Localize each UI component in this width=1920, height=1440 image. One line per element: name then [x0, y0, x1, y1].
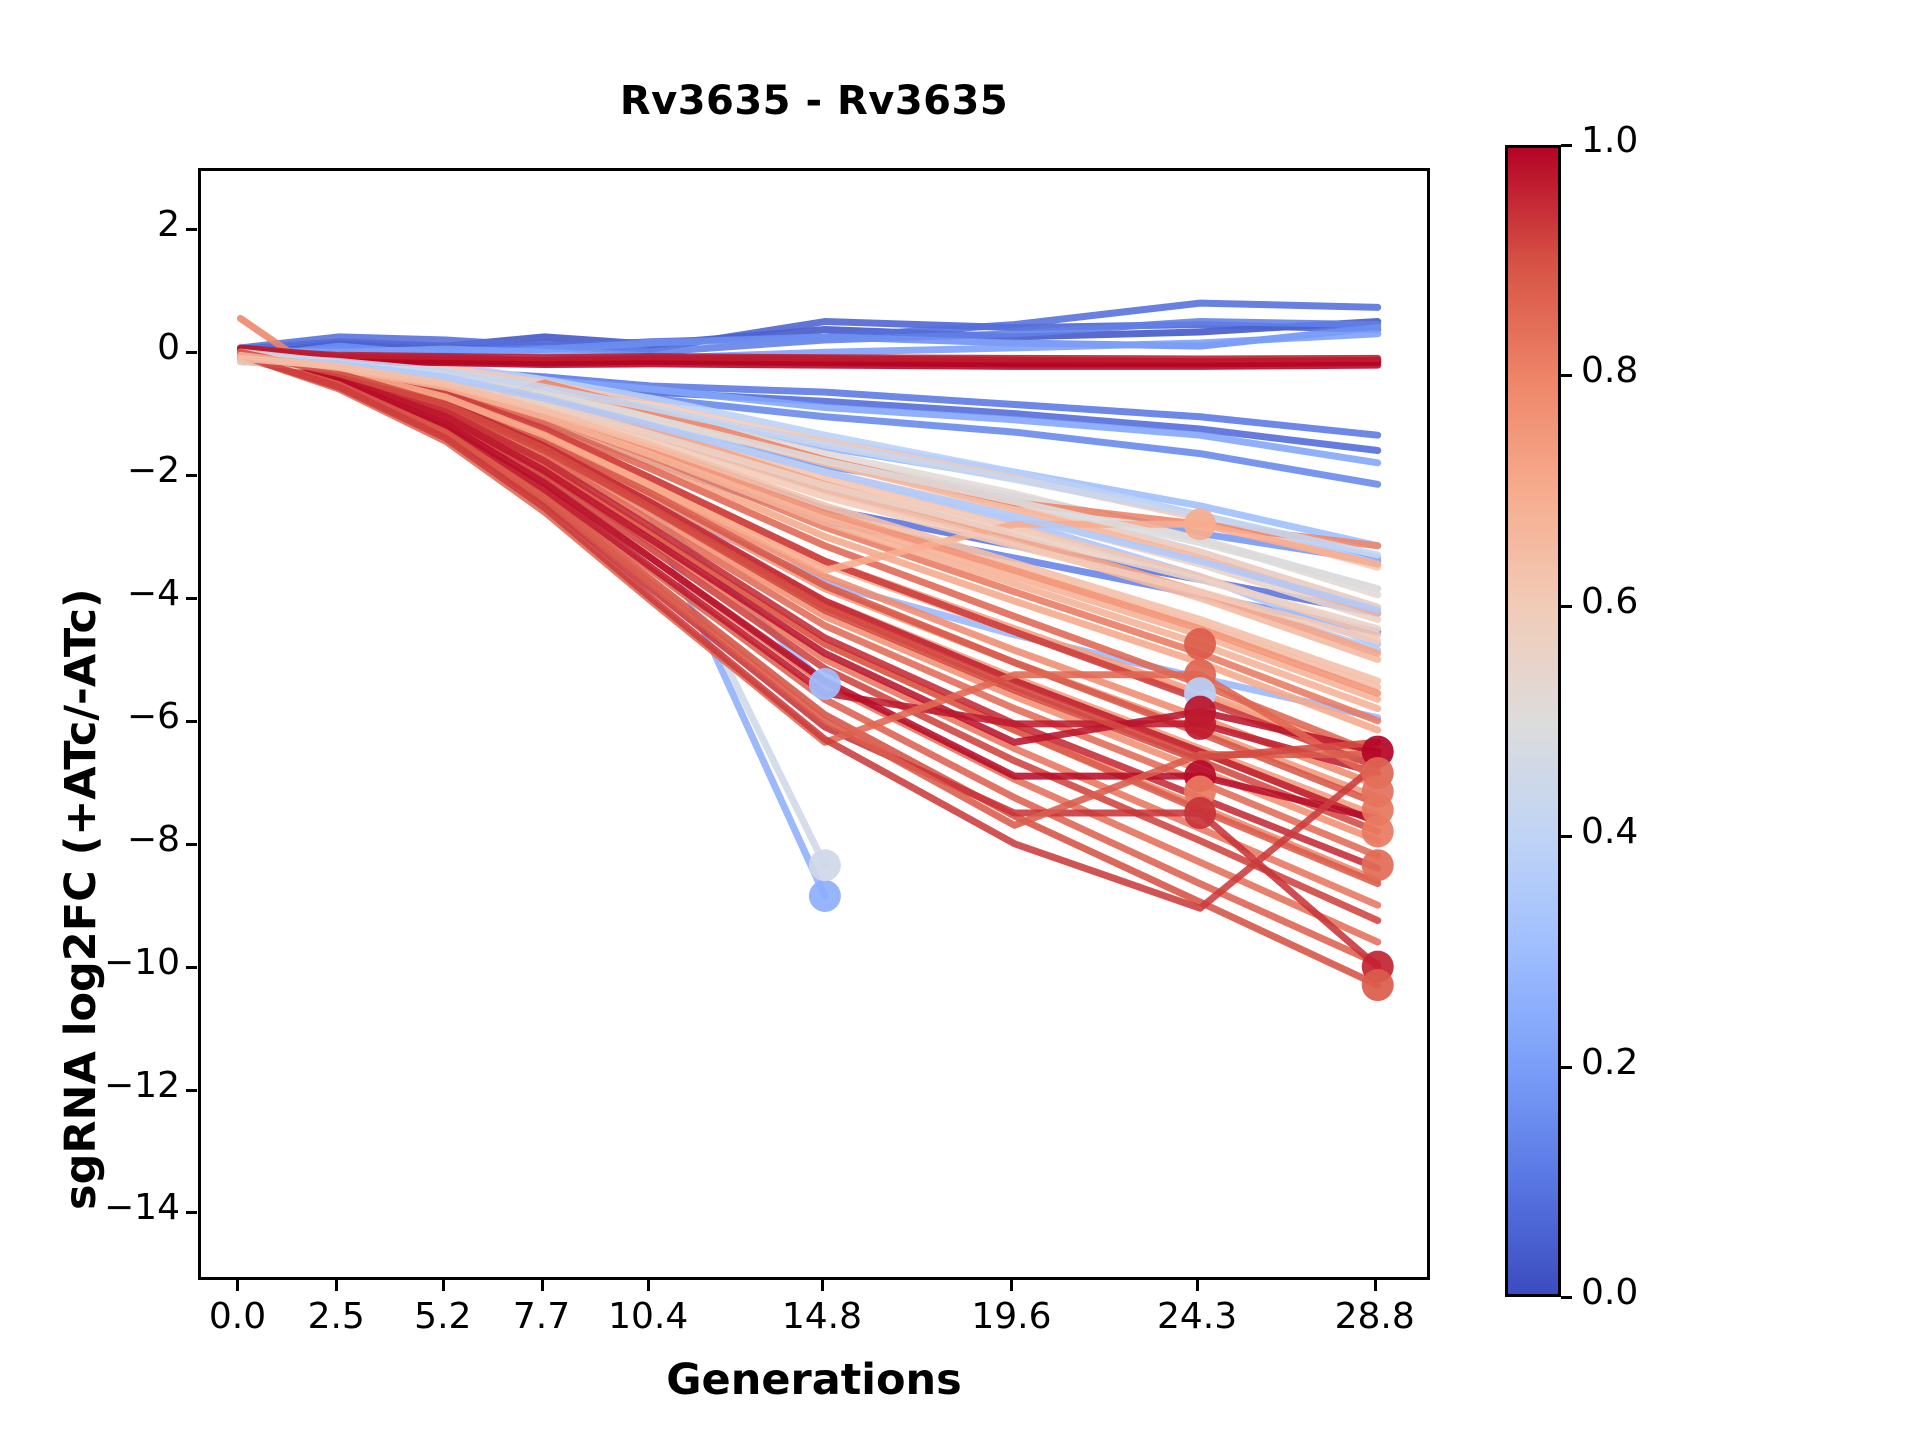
series-endpoint-marker [1362, 849, 1394, 881]
y-tick-label: −12 [104, 1065, 180, 1106]
colorbar-tick-mark [1561, 1296, 1572, 1299]
y-tick-label: −10 [104, 942, 180, 983]
page-title: Rv3635 - Rv3635 [198, 78, 1430, 124]
x-tick-label: 0.0 [209, 1296, 266, 1337]
colorbar-tick-label: 1.0 [1581, 120, 1638, 161]
y-tick-label: −14 [104, 1187, 180, 1228]
colorbar-tick-mark [1561, 1066, 1572, 1069]
series-endpoint-marker [809, 668, 841, 700]
x-tick-mark [442, 1280, 445, 1291]
y-tick-label: 2 [157, 204, 180, 245]
x-tick-mark [236, 1280, 239, 1291]
plot-area [198, 168, 1430, 1280]
y-tick-label: 0 [157, 327, 180, 368]
y-tick-label: −4 [127, 573, 180, 614]
x-tick-mark [821, 1280, 824, 1291]
series-endpoint-marker [809, 849, 841, 881]
y-tick-mark [186, 474, 197, 477]
x-tick-label: 10.4 [608, 1296, 688, 1337]
y-tick-mark [186, 1089, 197, 1092]
x-axis-label: Generations [198, 1355, 1430, 1405]
y-tick-mark [186, 720, 197, 723]
series-endpoint-marker [1184, 628, 1216, 660]
x-tick-label: 2.5 [308, 1296, 365, 1337]
y-tick-mark [186, 351, 197, 354]
x-tick-label: 7.7 [513, 1296, 570, 1337]
x-tick-mark [335, 1280, 338, 1291]
x-tick-mark [541, 1280, 544, 1291]
y-tick-mark [186, 966, 197, 969]
figure-canvas: Rv3635 - Rv3635 20−2−4−6−8−10−12−14 0.02… [0, 0, 1920, 1440]
x-tick-label: 14.8 [782, 1296, 862, 1337]
x-tick-mark [647, 1280, 650, 1291]
y-tick-label: −8 [127, 819, 180, 860]
y-tick-mark [186, 597, 197, 600]
series-endpoint-marker [1362, 969, 1394, 1001]
colorbar-gradient [1505, 145, 1561, 1297]
line-series-svg [201, 171, 1430, 1280]
series-endpoint-marker [1184, 797, 1216, 829]
series-endpoint-marker [1184, 708, 1216, 740]
x-tick-label: 28.8 [1335, 1296, 1415, 1337]
y-tick-label: −6 [127, 696, 180, 737]
colorbar-tick-mark [1561, 835, 1572, 838]
x-tick-mark [1010, 1280, 1013, 1291]
y-tick-mark [186, 843, 197, 846]
series-endpoint-marker [1362, 815, 1394, 847]
y-tick-mark [186, 228, 197, 231]
colorbar [1505, 145, 1561, 1297]
x-tick-label: 19.6 [971, 1296, 1051, 1337]
x-tick-label: 24.3 [1157, 1296, 1237, 1337]
series-endpoint-marker [809, 880, 841, 912]
colorbar-tick-mark [1561, 374, 1572, 377]
colorbar-tick-mark [1561, 144, 1572, 147]
y-tick-label: −2 [127, 450, 180, 491]
colorbar-tick-label: 0.2 [1581, 1042, 1638, 1083]
colorbar-tick-label: 0.0 [1581, 1272, 1638, 1313]
x-tick-label: 5.2 [414, 1296, 471, 1337]
x-tick-mark [1196, 1280, 1199, 1291]
colorbar-tick-mark [1561, 605, 1572, 608]
colorbar-tick-label: 0.4 [1581, 811, 1638, 852]
y-axis-label: sgRNA log2FC (+ATc/-ATc) [56, 588, 106, 1210]
series-endpoint-marker [1184, 508, 1216, 540]
colorbar-tick-label: 0.8 [1581, 350, 1638, 391]
colorbar-tick-label: 0.6 [1581, 581, 1638, 622]
x-tick-mark [1374, 1280, 1377, 1291]
y-tick-mark [186, 1211, 197, 1214]
